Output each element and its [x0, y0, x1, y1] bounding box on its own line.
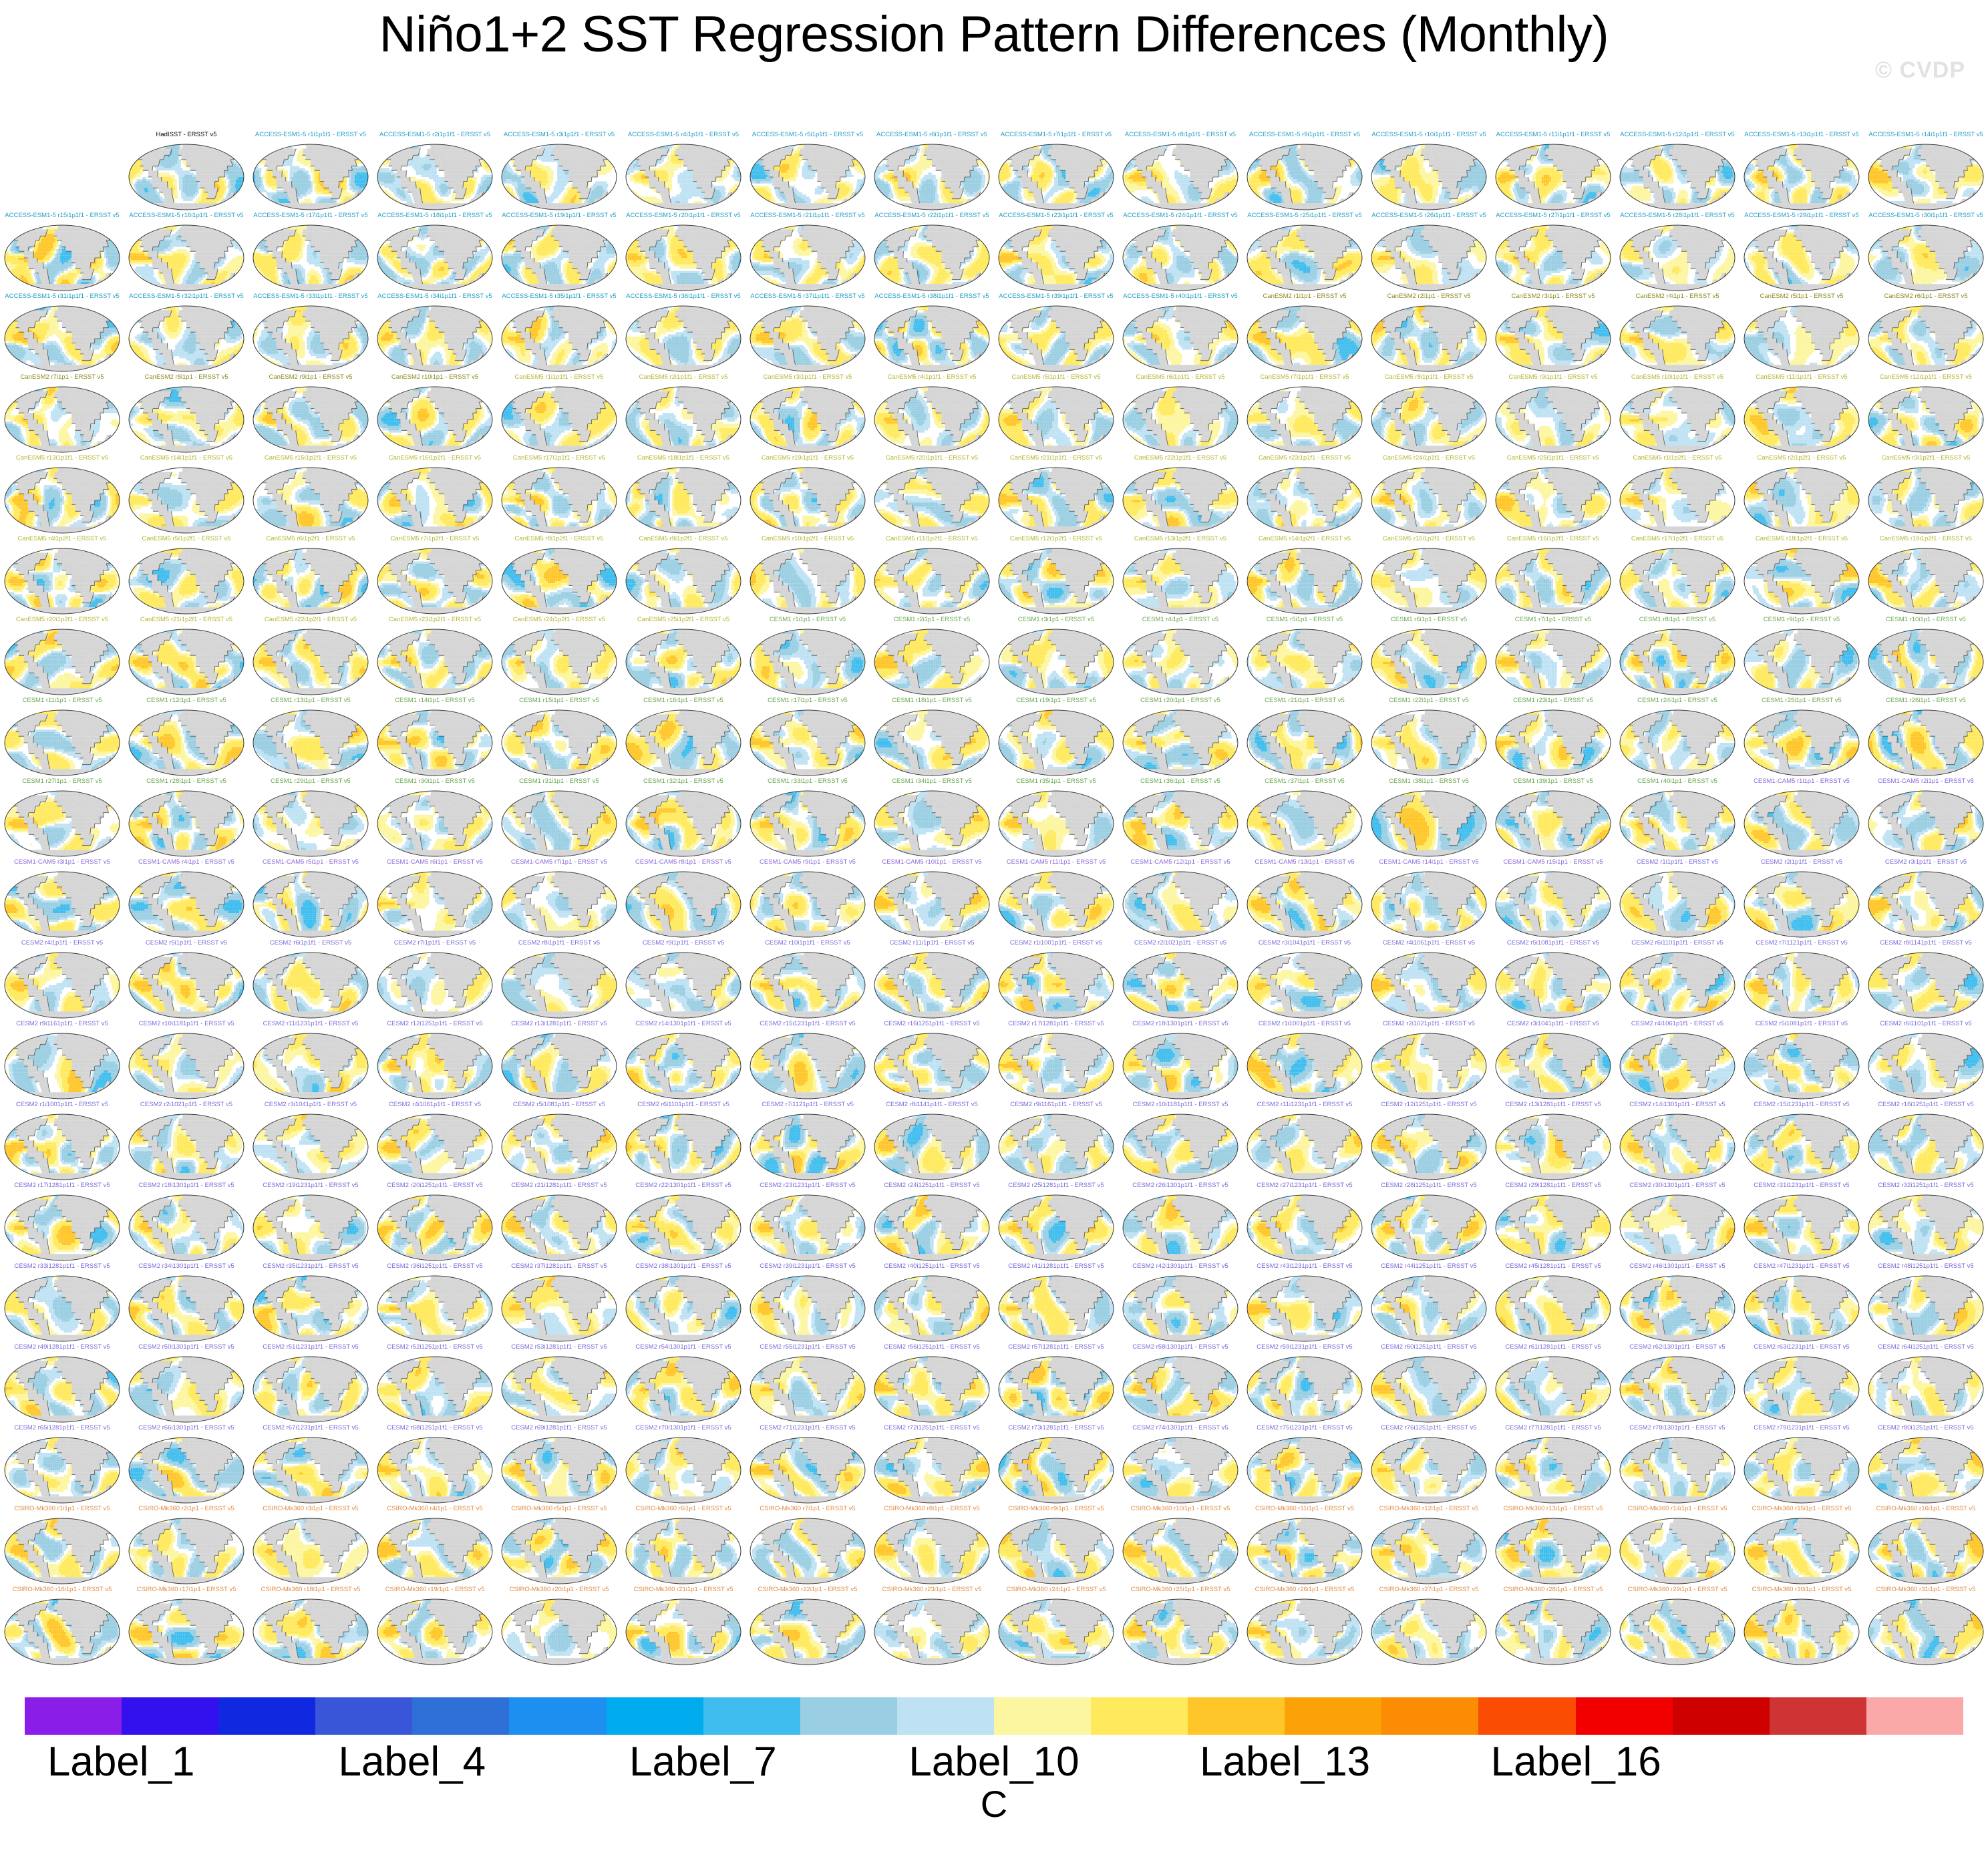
- map-panel[interactable]: CESM2 r78i1301p1f1 - ERSST v5: [1612, 1424, 1743, 1507]
- map-panel[interactable]: CESM2 r18i1301p1f1 - ERSST v5: [121, 1182, 252, 1264]
- map-panel[interactable]: CESM2 r58i1301p1f1 - ERSST v5: [1115, 1343, 1246, 1426]
- map-panel[interactable]: ACCESS-ESM1-5 r34i1p1f1 - ERSST v5: [369, 293, 500, 375]
- map-panel[interactable]: CESM2 r6i1101p1f1 - ERSST v5: [1860, 1020, 1988, 1103]
- map-panel[interactable]: CESM1 r32i1p1 - ERSST v5: [618, 778, 749, 860]
- map-panel[interactable]: CESM1 r18i1p1 - ERSST v5: [866, 697, 997, 780]
- map-panel[interactable]: CanESM5 r5i1p1f1 - ERSST v5: [991, 373, 1122, 456]
- map-panel[interactable]: CanESM5 r19i1p1f1 - ERSST v5: [742, 454, 873, 537]
- colorbar-cell[interactable]: [1188, 1697, 1285, 1735]
- map-panel[interactable]: CSIRO-Mk360 r15i1p1 - ERSST v5: [1736, 1505, 1867, 1588]
- map-panel[interactable]: CanESM2 r2i1p1 - ERSST v5: [1363, 293, 1494, 375]
- map-panel[interactable]: CESM1-CAM5 r12i1p1 - ERSST v5: [1115, 858, 1246, 941]
- map-panel[interactable]: ACCESS-ESM1-5 r14i1p1f1 - ERSST v5: [1860, 131, 1988, 214]
- map-panel[interactable]: CESM2 r6i1101p1f1 - ERSST v5: [618, 1101, 749, 1184]
- map-panel[interactable]: ACCESS-ESM1-5 r16i1p1f1 - ERSST v5: [121, 212, 252, 295]
- map-panel[interactable]: CESM1 r22i1p1 - ERSST v5: [1363, 697, 1494, 780]
- map-panel[interactable]: ACCESS-ESM1-5 r32i1p1f1 - ERSST v5: [121, 293, 252, 375]
- map-panel[interactable]: CESM2 r50i1301p1f1 - ERSST v5: [121, 1343, 252, 1426]
- map-panel[interactable]: CESM1 r6i1p1 - ERSST v5: [1363, 616, 1494, 699]
- map-panel[interactable]: CESM2 r1i1p1f1 - ERSST v5: [1612, 858, 1743, 941]
- map-panel[interactable]: CESM2 r27i1231p1f1 - ERSST v5: [1239, 1182, 1370, 1264]
- colorbar-cell[interactable]: [122, 1697, 218, 1735]
- map-panel[interactable]: CESM1-CAM5 r15i1p1 - ERSST v5: [1488, 858, 1619, 941]
- map-panel[interactable]: CESM2 r68i1251p1f1 - ERSST v5: [369, 1424, 500, 1507]
- map-panel[interactable]: CanESM5 r3i1p1f1 - ERSST v5: [742, 373, 873, 456]
- colorbar[interactable]: [24, 1697, 1964, 1735]
- map-panel[interactable]: CESM2 r9i1161p1f1 - ERSST v5: [0, 1020, 128, 1103]
- map-panel[interactable]: CESM1 r4i1p1 - ERSST v5: [1115, 616, 1246, 699]
- map-panel[interactable]: CESM2 r20i1251p1f1 - ERSST v5: [369, 1182, 500, 1264]
- map-panel[interactable]: CSIRO-Mk360 r4i1p1 - ERSST v5: [369, 1505, 500, 1588]
- map-panel[interactable]: CESM2 r40i1251p1f1 - ERSST v5: [866, 1262, 997, 1345]
- map-panel[interactable]: CanESM5 r17i1p1f1 - ERSST v5: [494, 454, 625, 537]
- map-panel[interactable]: CESM2 r6i1101p1f1 - ERSST v5: [1612, 939, 1743, 1022]
- map-panel[interactable]: CESM2 r16i1251p1f1 - ERSST v5: [1860, 1101, 1988, 1184]
- map-panel[interactable]: CESM2 r12i1251p1f1 - ERSST v5: [1363, 1101, 1494, 1184]
- map-panel[interactable]: CESM1 r14i1p1 - ERSST v5: [369, 697, 500, 780]
- colorbar-cell[interactable]: [607, 1697, 703, 1735]
- map-panel[interactable]: ACCESS-ESM1-5 r23i1p1f1 - ERSST v5: [991, 212, 1122, 295]
- map-panel[interactable]: CESM1 r38i1p1 - ERSST v5: [1363, 778, 1494, 860]
- map-panel[interactable]: ACCESS-ESM1-5 r21i1p1f1 - ERSST v5: [742, 212, 873, 295]
- map-panel[interactable]: CESM2 r63i1231p1f1 - ERSST v5: [1736, 1343, 1867, 1426]
- map-panel[interactable]: ACCESS-ESM1-5 r8i1p1f1 - ERSST v5: [1115, 131, 1246, 214]
- map-panel[interactable]: CESM2 r13i1281p1f1 - ERSST v5: [1488, 1101, 1619, 1184]
- map-panel[interactable]: ACCESS-ESM1-5 r40i1p1f1 - ERSST v5: [1115, 293, 1246, 375]
- map-panel[interactable]: CESM1-CAM5 r1i1p1 - ERSST v5: [1736, 778, 1867, 860]
- map-panel[interactable]: CanESM2 r10i1p1 - ERSST v5: [369, 373, 500, 456]
- map-panel[interactable]: CanESM5 r10i1p1f1 - ERSST v5: [1612, 373, 1743, 456]
- map-panel[interactable]: CESM2 r71i1231p1f1 - ERSST v5: [742, 1424, 873, 1507]
- map-panel[interactable]: CESM2 r44i1251p1f1 - ERSST v5: [1363, 1262, 1494, 1345]
- map-panel[interactable]: CSIRO-Mk360 r25i1p1 - ERSST v5: [1115, 1586, 1246, 1669]
- map-panel[interactable]: CESM2 r9i1161p1f1 - ERSST v5: [991, 1101, 1122, 1184]
- colorbar-cell[interactable]: [412, 1697, 509, 1735]
- colorbar-cell[interactable]: [218, 1697, 315, 1735]
- map-panel[interactable]: CESM2 r8i1p1f1 - ERSST v5: [494, 939, 625, 1022]
- map-panel[interactable]: CanESM5 r11i1p1f1 - ERSST v5: [1736, 373, 1867, 456]
- map-panel[interactable]: CESM2 r26i1301p1f1 - ERSST v5: [1115, 1182, 1246, 1264]
- map-panel[interactable]: CESM2 r22i1301p1f1 - ERSST v5: [618, 1182, 749, 1264]
- map-panel[interactable]: ACCESS-ESM1-5 r12i1p1f1 - ERSST v5: [1612, 131, 1743, 214]
- map-panel[interactable]: CanESM2 r5i1p1 - ERSST v5: [1736, 293, 1867, 375]
- map-panel[interactable]: CESM2 r53i1281p1f1 - ERSST v5: [494, 1343, 625, 1426]
- map-panel[interactable]: CESM1 r12i1p1 - ERSST v5: [121, 697, 252, 780]
- map-panel[interactable]: CanESM5 r24i1p1f1 - ERSST v5: [1363, 454, 1494, 537]
- map-panel[interactable]: CESM1 r7i1p1 - ERSST v5: [1488, 616, 1619, 699]
- map-panel[interactable]: CSIRO-Mk360 r16i1p1 - ERSST v5: [1860, 1505, 1988, 1588]
- map-panel[interactable]: ACCESS-ESM1-5 r37i1p1f1 - ERSST v5: [742, 293, 873, 375]
- map-panel[interactable]: CESM1 r37i1p1 - ERSST v5: [1239, 778, 1370, 860]
- map-panel[interactable]: CSIRO-Mk360 r24i1p1 - ERSST v5: [991, 1586, 1122, 1669]
- map-panel[interactable]: ACCESS-ESM1-5 r2i1p1f1 - ERSST v5: [369, 131, 500, 214]
- map-panel[interactable]: ACCESS-ESM1-5 r15i1p1f1 - ERSST v5: [0, 212, 128, 295]
- map-panel[interactable]: CSIRO-Mk360 r19i1p1 - ERSST v5: [369, 1586, 500, 1669]
- map-panel[interactable]: CanESM5 r19i1p2f1 - ERSST v5: [1860, 535, 1988, 618]
- map-panel[interactable]: CESM1 r3i1p1 - ERSST v5: [991, 616, 1122, 699]
- map-panel[interactable]: CESM2 r10i1181p1f1 - ERSST v5: [121, 1020, 252, 1103]
- map-panel[interactable]: CESM2 r25i1281p1f1 - ERSST v5: [991, 1182, 1122, 1264]
- map-panel[interactable]: CESM2 r2i1p1f1 - ERSST v5: [1736, 858, 1867, 941]
- map-panel[interactable]: CESM2 r28i1251p1f1 - ERSST v5: [1363, 1182, 1494, 1264]
- map-panel[interactable]: CESM2 r6i1p1f1 - ERSST v5: [245, 939, 376, 1022]
- map-panel[interactable]: CESM2 r5i1081p1f1 - ERSST v5: [494, 1101, 625, 1184]
- map-panel[interactable]: CSIRO-Mk360 r7i1p1 - ERSST v5: [742, 1505, 873, 1588]
- map-panel[interactable]: CESM2 r15i1231p1f1 - ERSST v5: [1736, 1101, 1867, 1184]
- map-panel[interactable]: CESM2 r77i1281p1f1 - ERSST v5: [1488, 1424, 1619, 1507]
- map-panel[interactable]: CESM2 r18i1301p1f1 - ERSST v5: [1115, 1020, 1246, 1103]
- map-panel[interactable]: CESM1-CAM5 r9i1p1 - ERSST v5: [742, 858, 873, 941]
- map-panel[interactable]: CESM2 r7i1p1f1 - ERSST v5: [369, 939, 500, 1022]
- map-panel[interactable]: CSIRO-Mk360 r2i1p1 - ERSST v5: [121, 1505, 252, 1588]
- map-panel[interactable]: CESM2 r8i1141p1f1 - ERSST v5: [866, 1101, 997, 1184]
- map-panel[interactable]: CESM2 r51i1231p1f1 - ERSST v5: [245, 1343, 376, 1426]
- map-panel[interactable]: CanESM5 r8i1p1f1 - ERSST v5: [1363, 373, 1494, 456]
- map-panel[interactable]: CESM2 r74i1301p1f1 - ERSST v5: [1115, 1424, 1246, 1507]
- map-panel[interactable]: CESM1 r17i1p1 - ERSST v5: [742, 697, 873, 780]
- map-panel[interactable]: CanESM5 r22i1p1f1 - ERSST v5: [1115, 454, 1246, 537]
- map-panel[interactable]: CanESM5 r8i1p2f1 - ERSST v5: [494, 535, 625, 618]
- map-panel[interactable]: CESM2 r65i1281p1f1 - ERSST v5: [0, 1424, 128, 1507]
- colorbar-cell[interactable]: [1285, 1697, 1381, 1735]
- map-panel[interactable]: CanESM5 r21i1p2f1 - ERSST v5: [121, 616, 252, 699]
- map-panel[interactable]: CESM2 r5i1p1f1 - ERSST v5: [121, 939, 252, 1022]
- map-panel[interactable]: CESM2 r17i1281p1f1 - ERSST v5: [991, 1020, 1122, 1103]
- map-panel[interactable]: CanESM5 r13i1p2f1 - ERSST v5: [1115, 535, 1246, 618]
- map-panel[interactable]: CSIRO-Mk360 r3i1p1 - ERSST v5: [245, 1505, 376, 1588]
- map-panel[interactable]: CSIRO-Mk360 r6i1p1 - ERSST v5: [618, 1505, 749, 1588]
- map-panel[interactable]: CanESM2 r9i1p1 - ERSST v5: [245, 373, 376, 456]
- map-panel[interactable]: CESM2 r56i1251p1f1 - ERSST v5: [866, 1343, 997, 1426]
- map-panel[interactable]: CESM2 r10i1p1f1 - ERSST v5: [742, 939, 873, 1022]
- map-panel[interactable]: ACCESS-ESM1-5 r7i1p1f1 - ERSST v5: [991, 131, 1122, 214]
- map-panel[interactable]: CESM2 r62i1301p1f1 - ERSST v5: [1612, 1343, 1743, 1426]
- map-panel[interactable]: CESM1 r34i1p1 - ERSST v5: [866, 778, 997, 860]
- map-panel[interactable]: CanESM5 r16i1p2f1 - ERSST v5: [1488, 535, 1619, 618]
- map-panel[interactable]: CanESM5 r4i1p2f1 - ERSST v5: [0, 535, 128, 618]
- map-panel[interactable]: CESM2 r75i1231p1f1 - ERSST v5: [1239, 1424, 1370, 1507]
- map-panel[interactable]: CSIRO-Mk360 r14i1p1 - ERSST v5: [1612, 1505, 1743, 1588]
- map-panel[interactable]: ACCESS-ESM1-5 r29i1p1f1 - ERSST v5: [1736, 212, 1867, 295]
- map-panel[interactable]: CESM2 r46i1301p1f1 - ERSST v5: [1612, 1262, 1743, 1345]
- map-panel[interactable]: CESM2 r73i1281p1f1 - ERSST v5: [991, 1424, 1122, 1507]
- map-panel[interactable]: CESM2 r23i1231p1f1 - ERSST v5: [742, 1182, 873, 1264]
- map-panel[interactable]: CanESM5 r5i1p2f1 - ERSST v5: [121, 535, 252, 618]
- map-panel[interactable]: CESM2 r57i1281p1f1 - ERSST v5: [991, 1343, 1122, 1426]
- map-panel[interactable]: ACCESS-ESM1-5 r33i1p1f1 - ERSST v5: [245, 293, 376, 375]
- map-panel[interactable]: CanESM5 r12i1p2f1 - ERSST v5: [991, 535, 1122, 618]
- map-panel[interactable]: CESM2 r4i1061p1f1 - ERSST v5: [369, 1101, 500, 1184]
- colorbar-cell[interactable]: [703, 1697, 800, 1735]
- map-panel[interactable]: ACCESS-ESM1-5 r4i1p1f1 - ERSST v5: [618, 131, 749, 214]
- map-panel[interactable]: CESM2 r13i1281p1f1 - ERSST v5: [494, 1020, 625, 1103]
- map-panel[interactable]: CESM2 r5i1081p1f1 - ERSST v5: [1736, 1020, 1867, 1103]
- map-panel[interactable]: CanESM5 r25i1p2f1 - ERSST v5: [618, 616, 749, 699]
- map-panel[interactable]: CanESM2 r3i1p1 - ERSST v5: [1488, 293, 1619, 375]
- map-panel[interactable]: HadISST - ERSST v5: [121, 131, 252, 214]
- map-panel[interactable]: CESM1 r19i1p1 - ERSST v5: [991, 697, 1122, 780]
- map-panel[interactable]: CESM2 r61i1281p1f1 - ERSST v5: [1488, 1343, 1619, 1426]
- map-panel[interactable]: CESM1 r2i1p1 - ERSST v5: [866, 616, 997, 699]
- map-panel[interactable]: ACCESS-ESM1-5 r20i1p1f1 - ERSST v5: [618, 212, 749, 295]
- map-panel[interactable]: ACCESS-ESM1-5 r9i1p1f1 - ERSST v5: [1239, 131, 1370, 214]
- map-panel[interactable]: CanESM5 r21i1p1f1 - ERSST v5: [991, 454, 1122, 537]
- map-panel[interactable]: CESM2 r31i1231p1f1 - ERSST v5: [1736, 1182, 1867, 1264]
- map-panel[interactable]: CESM1-CAM5 r6i1p1 - ERSST v5: [369, 858, 500, 941]
- map-panel[interactable]: CSIRO-Mk360 r5i1p1 - ERSST v5: [494, 1505, 625, 1588]
- map-panel[interactable]: CSIRO-Mk360 r30i1p1 - ERSST v5: [1736, 1586, 1867, 1669]
- map-panel[interactable]: CESM2 r11i1231p1f1 - ERSST v5: [1239, 1101, 1370, 1184]
- map-panel[interactable]: CESM1 r26i1p1 - ERSST v5: [1860, 697, 1988, 780]
- colorbar-cell[interactable]: [800, 1697, 897, 1735]
- map-panel[interactable]: CESM2 r47i1231p1f1 - ERSST v5: [1736, 1262, 1867, 1345]
- map-panel[interactable]: CESM2 r11i1231p1f1 - ERSST v5: [245, 1020, 376, 1103]
- map-panel[interactable]: CanESM5 r3i1p2f1 - ERSST v5: [1860, 454, 1988, 537]
- map-panel[interactable]: CanESM5 r17i1p2f1 - ERSST v5: [1612, 535, 1743, 618]
- map-panel[interactable]: CSIRO-Mk360 r1i1p1 - ERSST v5: [0, 1505, 128, 1588]
- map-panel[interactable]: CESM2 r59i1231p1f1 - ERSST v5: [1239, 1343, 1370, 1426]
- map-panel[interactable]: CESM1 r23i1p1 - ERSST v5: [1488, 697, 1619, 780]
- map-panel[interactable]: CanESM5 r1i1p2f1 - ERSST v5: [1612, 454, 1743, 537]
- map-panel[interactable]: CESM1 r36i1p1 - ERSST v5: [1115, 778, 1246, 860]
- map-panel[interactable]: ACCESS-ESM1-5 r24i1p1f1 - ERSST v5: [1115, 212, 1246, 295]
- colorbar-cell[interactable]: [509, 1697, 606, 1735]
- colorbar-cell[interactable]: [25, 1697, 122, 1735]
- map-panel[interactable]: CanESM5 r13i1p1f1 - ERSST v5: [0, 454, 128, 537]
- map-panel[interactable]: CESM2 r38i1301p1f1 - ERSST v5: [618, 1262, 749, 1345]
- map-panel[interactable]: CSIRO-Mk360 r21i1p1 - ERSST v5: [618, 1586, 749, 1669]
- map-panel[interactable]: ACCESS-ESM1-5 r26i1p1f1 - ERSST v5: [1363, 212, 1494, 295]
- map-panel[interactable]: ACCESS-ESM1-5 r30i1p1f1 - ERSST v5: [1860, 212, 1988, 295]
- map-panel[interactable]: CESM2 r1i1001p1f1 - ERSST v5: [0, 1101, 128, 1184]
- map-panel[interactable]: CESM2 r69i1281p1f1 - ERSST v5: [494, 1424, 625, 1507]
- map-panel[interactable]: CanESM5 r18i1p2f1 - ERSST v5: [1736, 535, 1867, 618]
- map-panel[interactable]: CESM1 r40i1p1 - ERSST v5: [1612, 778, 1743, 860]
- map-panel[interactable]: CESM2 r10i1181p1f1 - ERSST v5: [1115, 1101, 1246, 1184]
- map-panel[interactable]: CanESM5 r15i1p2f1 - ERSST v5: [1363, 535, 1494, 618]
- map-panel[interactable]: CESM2 r3i1041p1f1 - ERSST v5: [245, 1101, 376, 1184]
- map-panel[interactable]: CSIRO-Mk360 r20i1p1 - ERSST v5: [494, 1586, 625, 1669]
- map-panel[interactable]: CESM2 r16i1251p1f1 - ERSST v5: [866, 1020, 997, 1103]
- colorbar-cell[interactable]: [1091, 1697, 1188, 1735]
- map-panel[interactable]: CanESM5 r6i1p1f1 - ERSST v5: [1115, 373, 1246, 456]
- map-panel[interactable]: ACCESS-ESM1-5 r3i1p1f1 - ERSST v5: [494, 131, 625, 214]
- map-panel[interactable]: ACCESS-ESM1-5 r10i1p1f1 - ERSST v5: [1363, 131, 1494, 214]
- map-panel[interactable]: CanESM5 r18i1p1f1 - ERSST v5: [618, 454, 749, 537]
- map-panel[interactable]: CESM2 r4i1p1f1 - ERSST v5: [0, 939, 128, 1022]
- map-panel[interactable]: CESM2 r19i1231p1f1 - ERSST v5: [245, 1182, 376, 1264]
- map-panel[interactable]: CESM2 r1i1001p1f1 - ERSST v5: [1239, 1020, 1370, 1103]
- map-panel[interactable]: CESM1 r15i1p1 - ERSST v5: [494, 697, 625, 780]
- map-panel[interactable]: CanESM2 r7i1p1 - ERSST v5: [0, 373, 128, 456]
- colorbar-cell[interactable]: [1381, 1697, 1478, 1735]
- map-panel[interactable]: CESM2 r14i1301p1f1 - ERSST v5: [618, 1020, 749, 1103]
- map-panel[interactable]: CESM1-CAM5 r14i1p1 - ERSST v5: [1363, 858, 1494, 941]
- map-panel[interactable]: CESM1 r30i1p1 - ERSST v5: [369, 778, 500, 860]
- map-panel[interactable]: CanESM2 r1i1p1 - ERSST v5: [1239, 293, 1370, 375]
- map-panel[interactable]: CESM1-CAM5 r10i1p1 - ERSST v5: [866, 858, 997, 941]
- map-panel[interactable]: CESM2 r55i1231p1f1 - ERSST v5: [742, 1343, 873, 1426]
- map-panel[interactable]: ACCESS-ESM1-5 r31i1p1f1 - ERSST v5: [0, 293, 128, 375]
- map-panel[interactable]: CanESM2 r8i1p1 - ERSST v5: [121, 373, 252, 456]
- map-panel[interactable]: CanESM5 r14i1p1f1 - ERSST v5: [121, 454, 252, 537]
- map-panel[interactable]: CESM1 r25i1p1 - ERSST v5: [1736, 697, 1867, 780]
- map-panel[interactable]: CESM1 r9i1p1 - ERSST v5: [1736, 616, 1867, 699]
- map-panel[interactable]: CanESM5 r1i1p1f1 - ERSST v5: [494, 373, 625, 456]
- map-panel[interactable]: CESM2 r30i1301p1f1 - ERSST v5: [1612, 1182, 1743, 1264]
- colorbar-cell[interactable]: [1478, 1697, 1575, 1735]
- map-panel[interactable]: CanESM5 r14i1p2f1 - ERSST v5: [1239, 535, 1370, 618]
- map-panel[interactable]: CSIRO-Mk360 r17i1p1 - ERSST v5: [121, 1586, 252, 1669]
- map-panel[interactable]: CESM2 r64i1251p1f1 - ERSST v5: [1860, 1343, 1988, 1426]
- map-panel[interactable]: CESM2 r39i1231p1f1 - ERSST v5: [742, 1262, 873, 1345]
- map-panel[interactable]: CESM2 r67i1231p1f1 - ERSST v5: [245, 1424, 376, 1507]
- map-panel[interactable]: ACCESS-ESM1-5 r38i1p1f1 - ERSST v5: [866, 293, 997, 375]
- map-panel[interactable]: CESM1-CAM5 r5i1p1 - ERSST v5: [245, 858, 376, 941]
- map-panel[interactable]: CESM2 r5i1081p1f1 - ERSST v5: [1488, 939, 1619, 1022]
- map-panel[interactable]: ACCESS-ESM1-5 r17i1p1f1 - ERSST v5: [245, 212, 376, 295]
- map-panel[interactable]: ACCESS-ESM1-5 r36i1p1f1 - ERSST v5: [618, 293, 749, 375]
- map-panel[interactable]: CESM1 r20i1p1 - ERSST v5: [1115, 697, 1246, 780]
- map-panel[interactable]: CESM1 r5i1p1 - ERSST v5: [1239, 616, 1370, 699]
- map-panel[interactable]: ACCESS-ESM1-5 r13i1p1f1 - ERSST v5: [1736, 131, 1867, 214]
- colorbar-cell[interactable]: [1576, 1697, 1673, 1735]
- map-panel[interactable]: CESM1 r8i1p1 - ERSST v5: [1612, 616, 1743, 699]
- colorbar-cell[interactable]: [1673, 1697, 1770, 1735]
- map-panel[interactable]: CanESM2 r6i1p1 - ERSST v5: [1860, 293, 1988, 375]
- map-panel[interactable]: CESM1 r31i1p1 - ERSST v5: [494, 778, 625, 860]
- map-panel[interactable]: CESM1 r13i1p1 - ERSST v5: [245, 697, 376, 780]
- map-panel[interactable]: CanESM5 r20i1p1f1 - ERSST v5: [866, 454, 997, 537]
- map-panel[interactable]: CESM1 r10i1p1 - ERSST v5: [1860, 616, 1988, 699]
- map-panel[interactable]: CESM2 r34i1301p1f1 - ERSST v5: [121, 1262, 252, 1345]
- map-panel[interactable]: CESM2 r76i1251p1f1 - ERSST v5: [1363, 1424, 1494, 1507]
- map-panel[interactable]: CESM2 r8i1141p1f1 - ERSST v5: [1860, 939, 1988, 1022]
- colorbar-cell[interactable]: [1866, 1697, 1963, 1735]
- map-panel[interactable]: CanESM5 r25i1p1f1 - ERSST v5: [1488, 454, 1619, 537]
- map-panel[interactable]: CESM1-CAM5 r7i1p1 - ERSST v5: [494, 858, 625, 941]
- map-panel[interactable]: CESM2 r41i1281p1f1 - ERSST v5: [991, 1262, 1122, 1345]
- map-panel[interactable]: CESM2 r36i1251p1f1 - ERSST v5: [369, 1262, 500, 1345]
- map-panel[interactable]: CESM1 r1i1p1 - ERSST v5: [742, 616, 873, 699]
- map-panel[interactable]: CESM2 r32i1251p1f1 - ERSST v5: [1860, 1182, 1988, 1264]
- map-panel[interactable]: CESM1-CAM5 r4i1p1 - ERSST v5: [121, 858, 252, 941]
- map-panel[interactable]: CSIRO-Mk360 r12i1p1 - ERSST v5: [1363, 1505, 1494, 1588]
- map-panel[interactable]: ACCESS-ESM1-5 r19i1p1f1 - ERSST v5: [494, 212, 625, 295]
- map-panel[interactable]: CESM1 r29i1p1 - ERSST v5: [245, 778, 376, 860]
- map-panel[interactable]: CESM2 r24i1251p1f1 - ERSST v5: [866, 1182, 997, 1264]
- map-panel[interactable]: CESM1-CAM5 r13i1p1 - ERSST v5: [1239, 858, 1370, 941]
- map-panel[interactable]: CESM2 r70i1301p1f1 - ERSST v5: [618, 1424, 749, 1507]
- map-panel[interactable]: CanESM5 r15i1p1f1 - ERSST v5: [245, 454, 376, 537]
- map-panel[interactable]: CESM2 r2i1021p1f1 - ERSST v5: [1115, 939, 1246, 1022]
- map-panel[interactable]: CSIRO-Mk360 r11i1p1 - ERSST v5: [1239, 1505, 1370, 1588]
- map-panel[interactable]: CSIRO-Mk360 r8i1p1 - ERSST v5: [866, 1505, 997, 1588]
- map-panel[interactable]: CanESM5 r22i1p2f1 - ERSST v5: [245, 616, 376, 699]
- map-panel[interactable]: CanESM5 r20i1p2f1 - ERSST v5: [0, 616, 128, 699]
- map-panel[interactable]: CanESM5 r2i1p2f1 - ERSST v5: [1736, 454, 1867, 537]
- map-panel[interactable]: CanESM5 r24i1p2f1 - ERSST v5: [494, 616, 625, 699]
- map-panel[interactable]: CSIRO-Mk360 r9i1p1 - ERSST v5: [991, 1505, 1122, 1588]
- map-panel[interactable]: ACCESS-ESM1-5 r5i1p1f1 - ERSST v5: [742, 131, 873, 214]
- map-panel[interactable]: CESM2 r52i1251p1f1 - ERSST v5: [369, 1343, 500, 1426]
- map-panel[interactable]: CESM2 r49i1281p1f1 - ERSST v5: [0, 1343, 128, 1426]
- map-panel[interactable]: CESM1-CAM5 r2i1p1 - ERSST v5: [1860, 778, 1988, 860]
- map-panel[interactable]: CSIRO-Mk360 r23i1p1 - ERSST v5: [866, 1586, 997, 1669]
- map-panel[interactable]: CESM2 r66i1301p1f1 - ERSST v5: [121, 1424, 252, 1507]
- map-panel[interactable]: CSIRO-Mk360 r28i1p1 - ERSST v5: [1488, 1586, 1619, 1669]
- map-panel[interactable]: CanESM5 r2i1p1f1 - ERSST v5: [618, 373, 749, 456]
- map-panel[interactable]: CESM2 r42i1301p1f1 - ERSST v5: [1115, 1262, 1246, 1345]
- map-panel[interactable]: CESM2 r3i1041p1f1 - ERSST v5: [1239, 939, 1370, 1022]
- map-panel[interactable]: CESM2 r2i1021p1f1 - ERSST v5: [121, 1101, 252, 1184]
- colorbar-cell[interactable]: [994, 1697, 1091, 1735]
- map-panel[interactable]: CSIRO-Mk360 r26i1p1 - ERSST v5: [1239, 1586, 1370, 1669]
- map-panel[interactable]: CESM1 r33i1p1 - ERSST v5: [742, 778, 873, 860]
- map-panel[interactable]: ACCESS-ESM1-5 r25i1p1f1 - ERSST v5: [1239, 212, 1370, 295]
- map-panel[interactable]: CESM2 r7i1121p1f1 - ERSST v5: [742, 1101, 873, 1184]
- map-panel[interactable]: ACCESS-ESM1-5 r28i1p1f1 - ERSST v5: [1612, 212, 1743, 295]
- map-panel[interactable]: CanESM5 r4i1p1f1 - ERSST v5: [866, 373, 997, 456]
- map-panel[interactable]: CanESM5 r11i1p2f1 - ERSST v5: [866, 535, 997, 618]
- map-panel[interactable]: CESM2 r14i1301p1f1 - ERSST v5: [1612, 1101, 1743, 1184]
- map-panel[interactable]: ACCESS-ESM1-5 r22i1p1f1 - ERSST v5: [866, 212, 997, 295]
- colorbar-cell[interactable]: [1770, 1697, 1866, 1735]
- map-panel[interactable]: CanESM5 r9i1p1f1 - ERSST v5: [1488, 373, 1619, 456]
- colorbar-cell[interactable]: [315, 1697, 412, 1735]
- map-panel[interactable]: CESM1-CAM5 r3i1p1 - ERSST v5: [0, 858, 128, 941]
- map-panel[interactable]: CESM2 r4i1061p1f1 - ERSST v5: [1363, 939, 1494, 1022]
- map-panel[interactable]: CanESM5 r7i1p1f1 - ERSST v5: [1239, 373, 1370, 456]
- map-panel[interactable]: CanESM5 r9i1p2f1 - ERSST v5: [618, 535, 749, 618]
- map-panel[interactable]: CSIRO-Mk360 r29i1p1 - ERSST v5: [1612, 1586, 1743, 1669]
- map-panel[interactable]: CSIRO-Mk360 r10i1p1 - ERSST v5: [1115, 1505, 1246, 1588]
- map-panel[interactable]: CanESM5 r6i1p2f1 - ERSST v5: [245, 535, 376, 618]
- map-panel[interactable]: CSIRO-Mk360 r13i1p1 - ERSST v5: [1488, 1505, 1619, 1588]
- colorbar-cell[interactable]: [897, 1697, 994, 1735]
- map-panel[interactable]: ACCESS-ESM1-5 r18i1p1f1 - ERSST v5: [369, 212, 500, 295]
- map-panel[interactable]: CESM2 r3i1p1f1 - ERSST v5: [1860, 858, 1988, 941]
- map-panel[interactable]: CESM1 r11i1p1 - ERSST v5: [0, 697, 128, 780]
- map-panel[interactable]: CESM1 r21i1p1 - ERSST v5: [1239, 697, 1370, 780]
- map-panel[interactable]: ACCESS-ESM1-5 r39i1p1f1 - ERSST v5: [991, 293, 1122, 375]
- map-panel[interactable]: CSIRO-Mk360 r22i1p1 - ERSST v5: [742, 1586, 873, 1669]
- map-panel[interactable]: CESM2 r11i1p1f1 - ERSST v5: [866, 939, 997, 1022]
- map-panel[interactable]: CSIRO-Mk360 r27i1p1 - ERSST v5: [1363, 1586, 1494, 1669]
- map-panel[interactable]: ACCESS-ESM1-5 r1i1p1f1 - ERSST v5: [245, 131, 376, 214]
- map-panel[interactable]: CESM2 r2i1021p1f1 - ERSST v5: [1363, 1020, 1494, 1103]
- map-panel[interactable]: CESM1 r16i1p1 - ERSST v5: [618, 697, 749, 780]
- map-panel[interactable]: CESM1 r35i1p1 - ERSST v5: [991, 778, 1122, 860]
- map-panel[interactable]: CESM2 r9i1p1f1 - ERSST v5: [618, 939, 749, 1022]
- map-panel[interactable]: CESM2 r35i1231p1f1 - ERSST v5: [245, 1262, 376, 1345]
- map-panel[interactable]: CSIRO-Mk360 r16i1p1 - ERSST v5: [0, 1586, 128, 1669]
- map-panel[interactable]: CESM2 r60i1251p1f1 - ERSST v5: [1363, 1343, 1494, 1426]
- map-panel[interactable]: CESM2 r29i1281p1f1 - ERSST v5: [1488, 1182, 1619, 1264]
- map-panel[interactable]: CESM2 r45i1281p1f1 - ERSST v5: [1488, 1262, 1619, 1345]
- map-panel[interactable]: CESM2 r37i1281p1f1 - ERSST v5: [494, 1262, 625, 1345]
- map-panel[interactable]: CESM2 r48i1251p1f1 - ERSST v5: [1860, 1262, 1988, 1345]
- map-panel[interactable]: CESM2 r4i1061p1f1 - ERSST v5: [1612, 1020, 1743, 1103]
- map-panel[interactable]: CanESM5 r7i1p2f1 - ERSST v5: [369, 535, 500, 618]
- map-panel[interactable]: CESM2 r17i1281p1f1 - ERSST v5: [0, 1182, 128, 1264]
- map-panel[interactable]: CESM1 r27i1p1 - ERSST v5: [0, 778, 128, 860]
- map-panel[interactable]: CESM1 r39i1p1 - ERSST v5: [1488, 778, 1619, 860]
- map-panel[interactable]: CESM2 r72i1251p1f1 - ERSST v5: [866, 1424, 997, 1507]
- map-panel[interactable]: CESM2 r7i1121p1f1 - ERSST v5: [1736, 939, 1867, 1022]
- map-panel[interactable]: CESM2 r80i1251p1f1 - ERSST v5: [1860, 1424, 1988, 1507]
- map-panel[interactable]: CanESM5 r23i1p2f1 - ERSST v5: [369, 616, 500, 699]
